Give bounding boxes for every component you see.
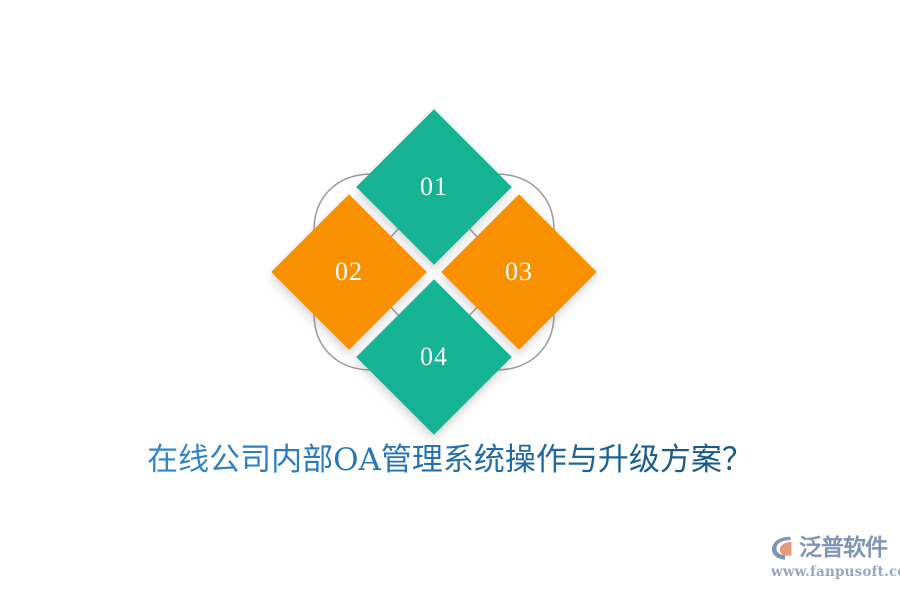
diagram-node-04-label: 04 bbox=[420, 344, 448, 370]
diagram-node-03-label: 03 bbox=[505, 259, 533, 285]
four-step-diamond-diagram: 01 02 03 04 bbox=[274, 112, 594, 432]
diagram-node-02-label: 02 bbox=[335, 259, 363, 285]
slide-canvas: 01 02 03 04 在线公司内部OA管理系统操作与升级方案？ 泛普软件 ww… bbox=[0, 0, 900, 600]
fanpusoft-watermark-logo: 泛普软件 www.fanpusoft.com bbox=[770, 533, 895, 585]
logo-row: 泛普软件 bbox=[770, 533, 895, 563]
diagram-node-01-label: 01 bbox=[420, 174, 448, 200]
logo-brand-text: 泛普软件 bbox=[799, 537, 887, 560]
logo-url-text: www.fanpusoft.com bbox=[771, 564, 895, 580]
page-title: 在线公司内部OA管理系统操作与升级方案？ bbox=[0, 434, 900, 479]
fanpu-circle-swoosh-icon bbox=[770, 535, 798, 561]
